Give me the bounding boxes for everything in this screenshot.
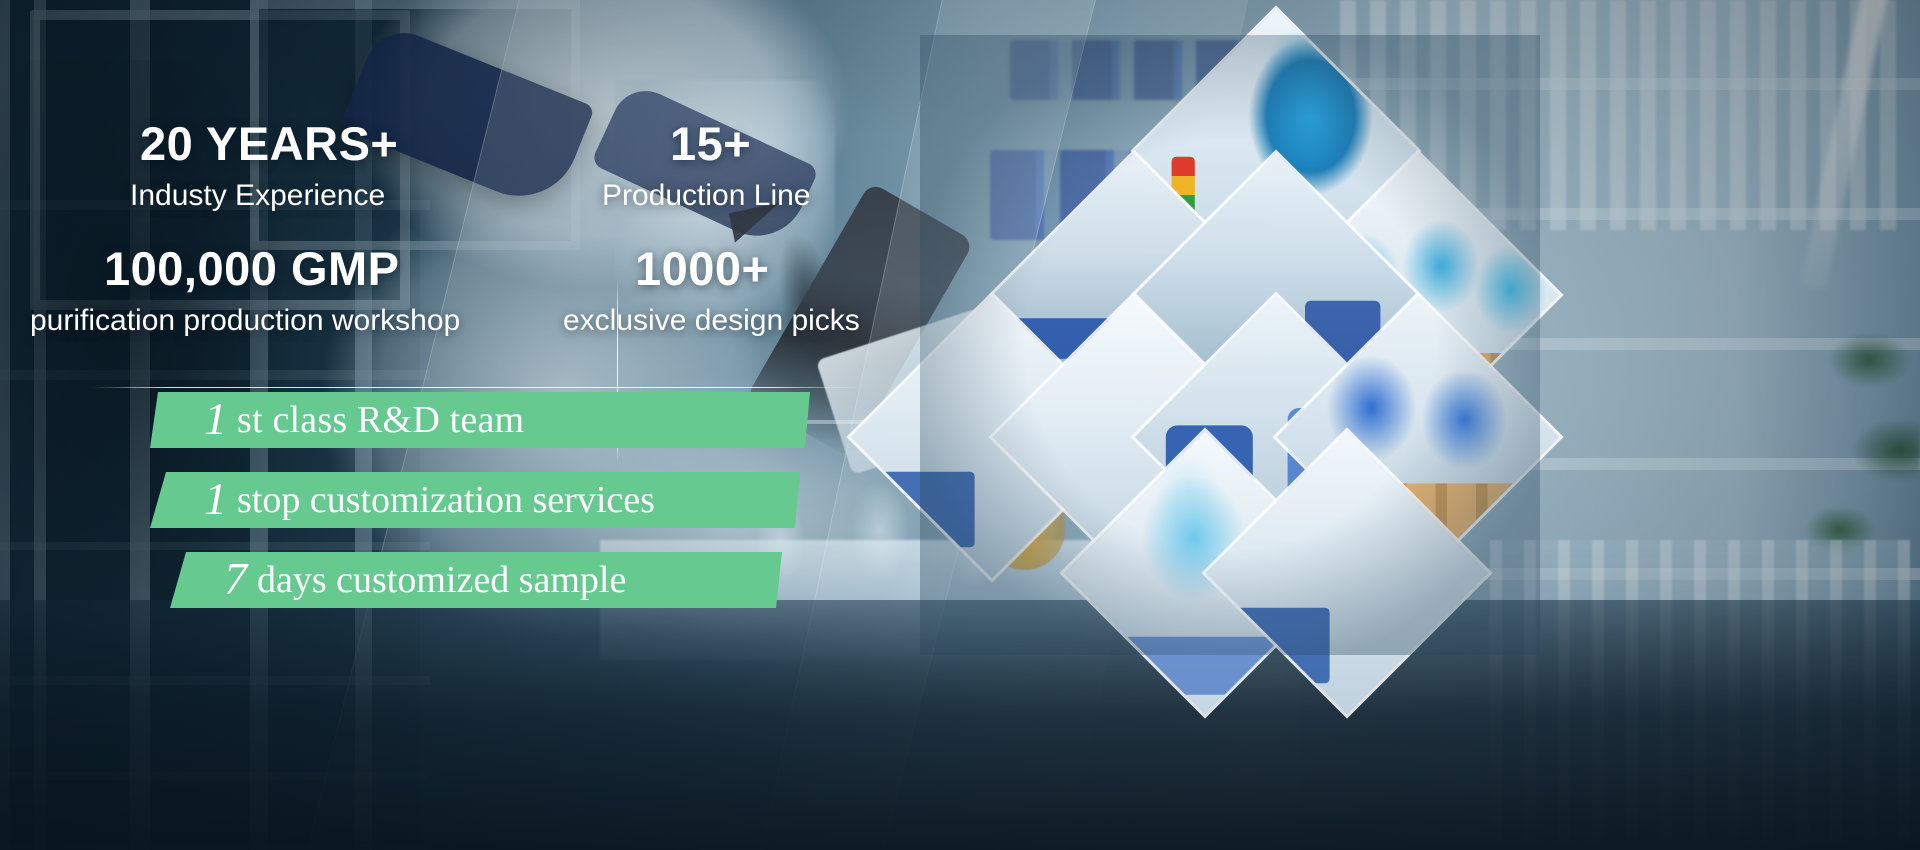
diamond-photo-collage xyxy=(940,55,1520,635)
ribbon-rd-team-number: 1 xyxy=(204,396,227,442)
stat-years-experience: 20 YEARS+ Industy Experience xyxy=(130,120,398,211)
ribbon-customized-sample: 7 days customized sample xyxy=(170,552,782,608)
stat-years-label: Industy Experience xyxy=(130,181,398,211)
stat-production-line: 15+ Production Line xyxy=(602,120,810,211)
stat-design-number: 1000+ xyxy=(635,245,860,292)
stat-gmp-label: purification production workshop xyxy=(30,306,460,336)
stat-production-number: 15+ xyxy=(670,120,810,167)
ribbon-customization-services: 1 stop customization services xyxy=(150,472,800,528)
ribbon-customization-number: 1 xyxy=(204,476,227,522)
ribbon-rd-team: 1 st class R&D team xyxy=(150,392,810,448)
stat-years-number: 20 YEARS+ xyxy=(140,120,398,167)
ribbon-rd-team-text: st class R&D team xyxy=(237,401,524,439)
stats-grid: 20 YEARS+ Industy Experience 15+ Product… xyxy=(0,105,900,375)
stat-design-label: exclusive design picks xyxy=(563,306,860,336)
hero-banner: 20 YEARS+ Industy Experience 15+ Product… xyxy=(0,0,1920,850)
ribbon-customization-text: stop customization services xyxy=(237,481,655,519)
stat-gmp-workshop: 100,000 GMP purification production work… xyxy=(30,245,460,336)
highlight-ribbons: 1 st class R&D team 1 stop customization… xyxy=(0,392,900,608)
ribbon-sample-text: days customized sample xyxy=(257,561,626,599)
stat-production-label: Production Line xyxy=(602,181,810,211)
stat-design-picks: 1000+ exclusive design picks xyxy=(563,245,860,336)
stat-gmp-number: 100,000 GMP xyxy=(104,245,460,292)
stats-divider-horizontal xyxy=(92,387,860,388)
ribbon-sample-number: 7 xyxy=(224,556,247,602)
